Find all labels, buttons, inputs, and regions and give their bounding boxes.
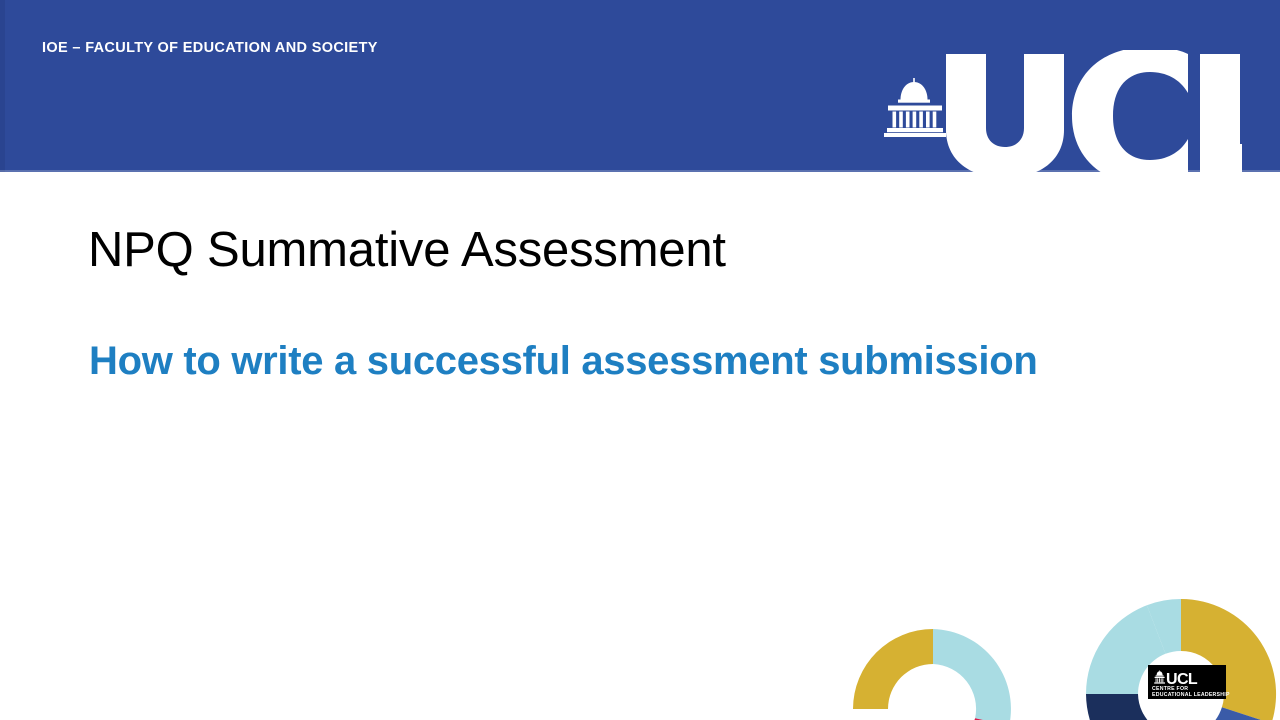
page-subtitle: How to write a successful assessment sub… <box>89 336 1037 386</box>
header-left-accent <box>0 0 5 172</box>
header-faculty-label: IOE – FACULTY OF EDUCATION AND SOCIETY <box>42 39 378 57</box>
cel-badge-ucl-mark: UCL <box>1152 668 1216 685</box>
donut-right-segment-gold <box>1181 599 1276 720</box>
ucl-logo <box>884 56 1234 180</box>
donut-chart-right <box>1076 590 1280 720</box>
cel-logo-badge: UCL CENTRE FOR EDUCATIONAL LEADERSHIP <box>1148 665 1226 699</box>
ucl-wordmark <box>942 50 1242 180</box>
donut-left-segment-gold <box>853 629 933 709</box>
ucl-portico-icon <box>884 78 946 138</box>
donut-right-segment-navy <box>1086 694 1153 720</box>
svg-text:UCL: UCL <box>1166 671 1198 685</box>
donut-chart-left <box>842 618 1024 720</box>
slide-canvas: IOE – FACULTY OF EDUCATION AND SOCIETY <box>0 0 1280 720</box>
donut-left-segment-light-blue <box>933 629 1011 720</box>
page-title: NPQ Summative Assessment <box>88 220 726 280</box>
cel-badge-line-2: EDUCATIONAL LEADERSHIP <box>1152 692 1230 698</box>
header-band: IOE – FACULTY OF EDUCATION AND SOCIETY <box>0 0 1280 172</box>
